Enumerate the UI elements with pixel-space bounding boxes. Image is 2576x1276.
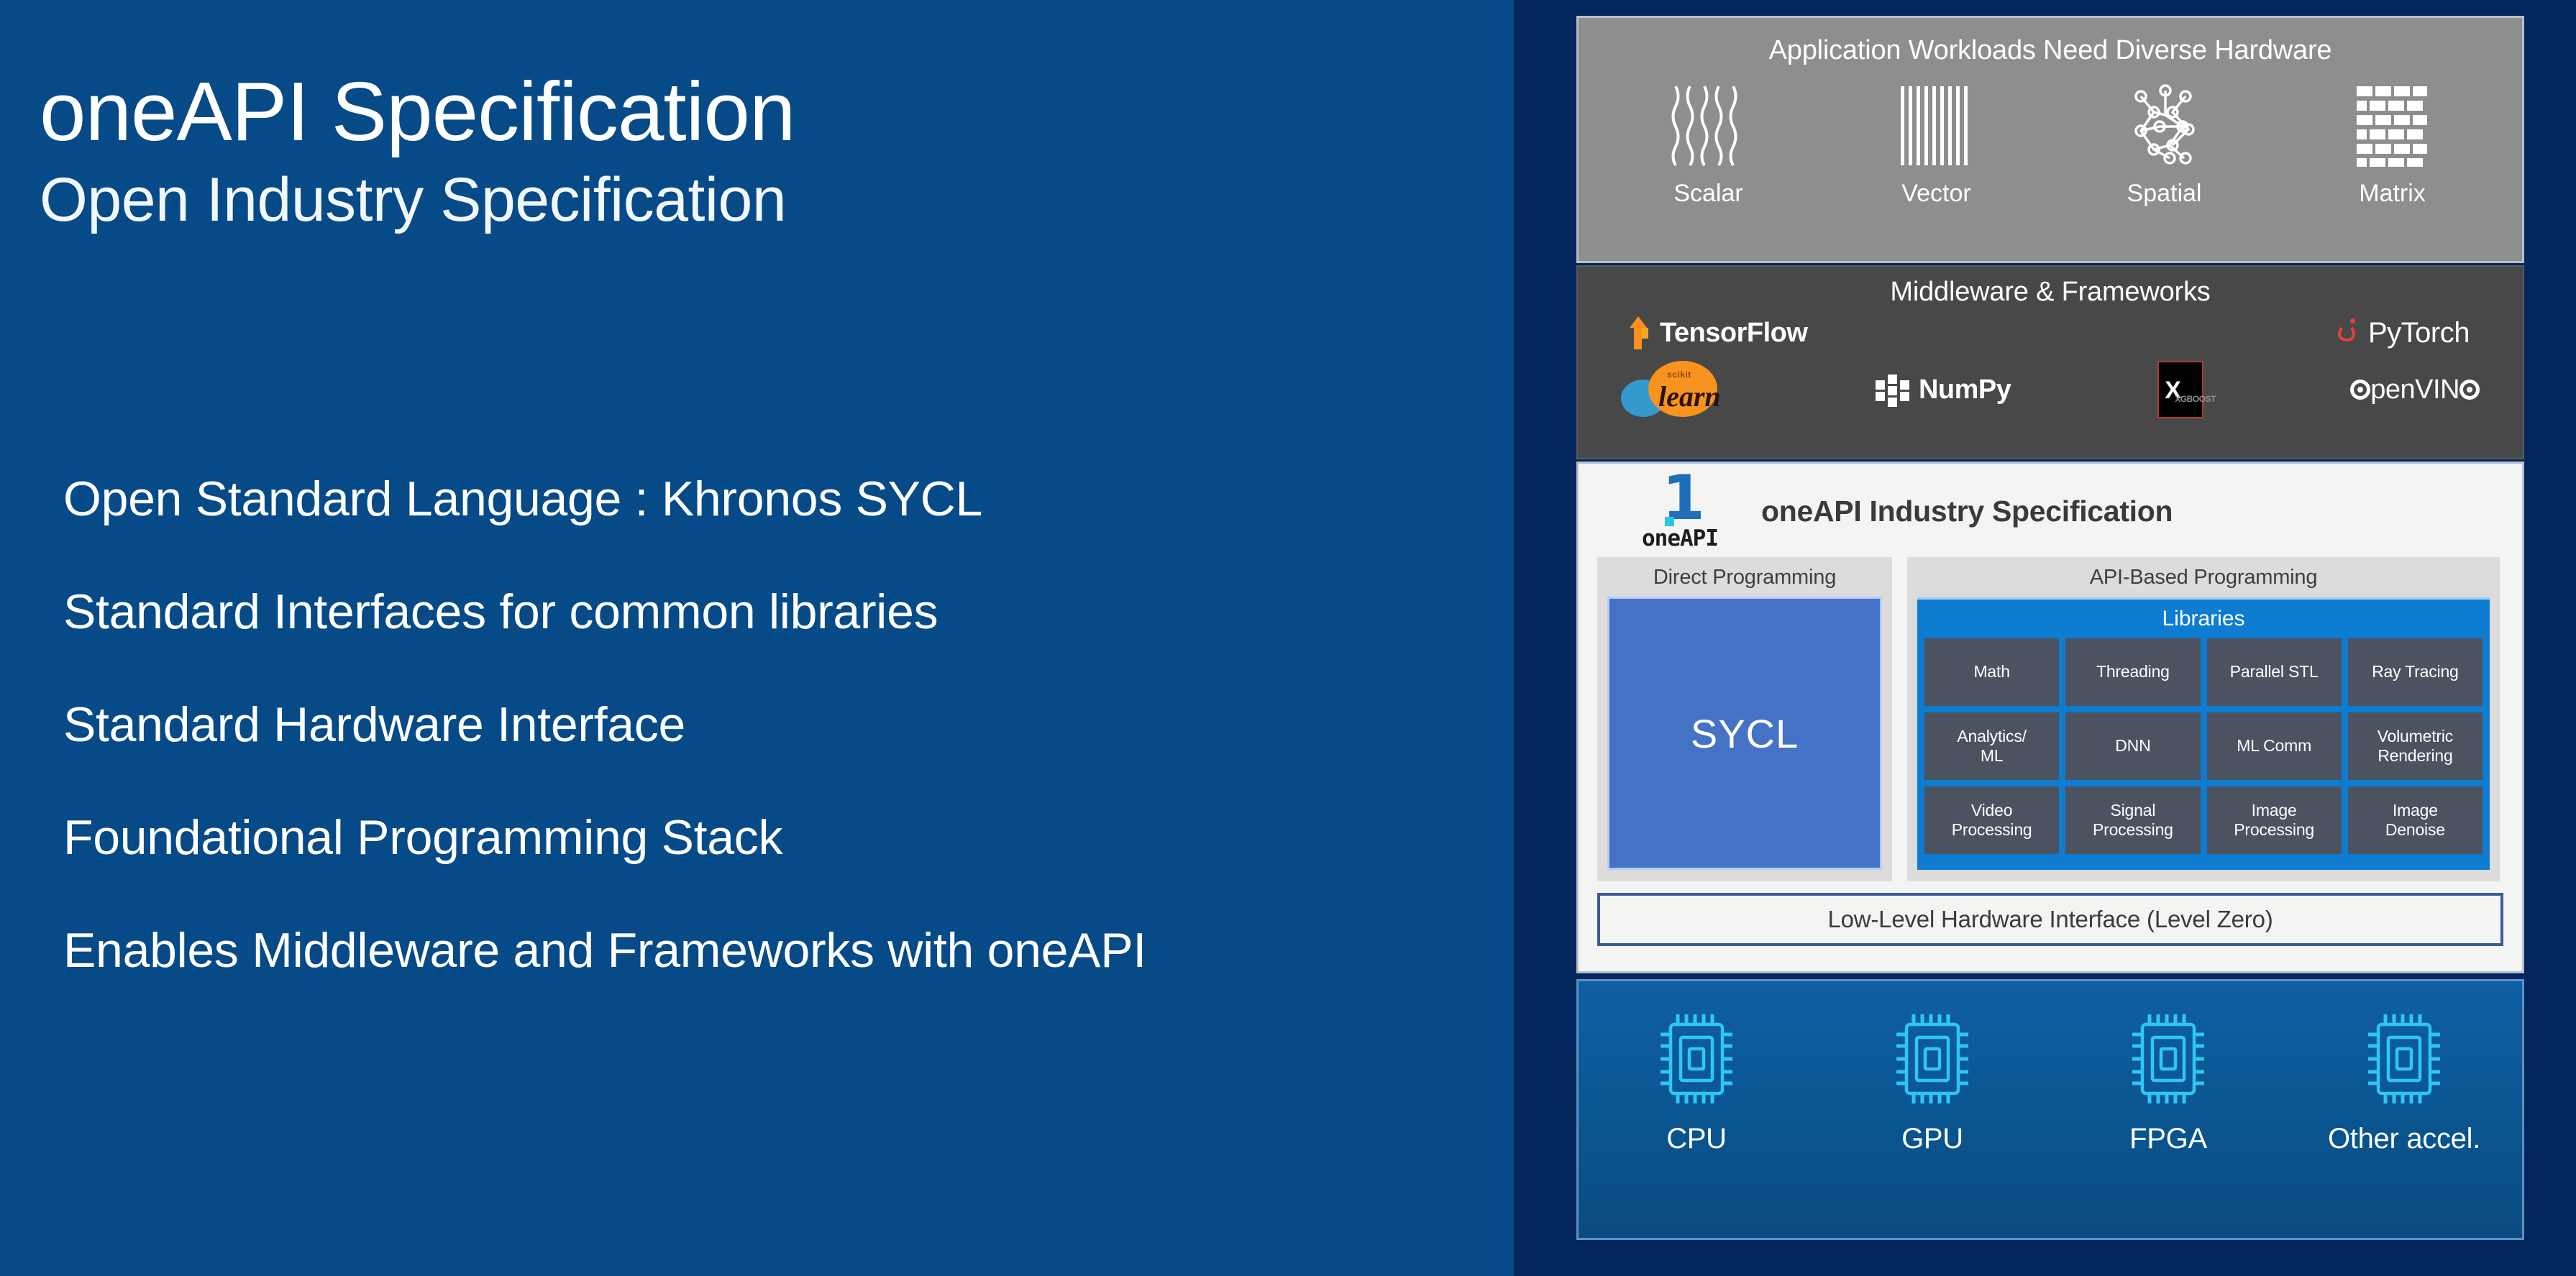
numpy-logo-icon	[1876, 372, 1910, 408]
library-tile[interactable]: Signal Processing	[2065, 786, 2200, 854]
cpu-chip-icon	[1888, 1010, 1977, 1108]
scikit-learn-sub-label: scikit	[1667, 370, 1691, 380]
framework-scikit-learn: scikit learn	[1621, 359, 1729, 420]
list-item: Open Standard Language : Khronos SYCL	[63, 474, 1473, 523]
library-tile[interactable]: Image Processing	[2207, 786, 2342, 854]
framework-tensorflow: TensorFlow	[1625, 316, 1807, 349]
list-item: Standard Interfaces for common libraries	[63, 587, 1473, 636]
workload-item-matrix: Matrix	[2278, 82, 2506, 208]
libraries-grid: Math Threading Parallel STL Ray Tracing …	[1924, 638, 2483, 854]
tensorflow-logo-icon	[1625, 316, 1651, 349]
hardware-target-label: CPU	[1579, 1123, 1814, 1155]
framework-numpy: NumPy	[1876, 372, 2011, 408]
hardware-target-other-accel: Other accel.	[2286, 1010, 2522, 1155]
workloads-icon-row: Scalar	[1579, 82, 2522, 208]
left-content-panel: oneAPI Specification Open Industry Speci…	[0, 0, 1514, 1276]
library-tile[interactable]: Video Processing	[1924, 786, 2059, 854]
hardware-target-label: GPU	[1814, 1123, 2050, 1155]
library-tile[interactable]: Threading	[2065, 638, 2200, 706]
programming-columns: Direct Programming SYCL API-Based Progra…	[1579, 557, 2522, 881]
workload-label: Scalar	[1594, 180, 1822, 208]
workloads-title: Application Workloads Need Diverse Hardw…	[1579, 18, 2522, 66]
vector-bars-icon	[1822, 82, 2050, 168]
middleware-title: Middleware & Frameworks	[1578, 267, 2523, 308]
libraries-title: Libraries	[1924, 607, 2483, 631]
scikit-learn-label: learn	[1658, 380, 1721, 413]
column-title: Direct Programming	[1607, 566, 1882, 589]
library-tile[interactable]: DNN	[2065, 712, 2200, 780]
slide-root: oneAPI Specification Open Industry Speci…	[0, 0, 2576, 1276]
libraries-block: Libraries Math Threading Parallel STL Ra…	[1917, 597, 2490, 870]
framework-pytorch: PyTorch	[2335, 317, 2470, 349]
spatial-graph-icon	[2050, 82, 2278, 168]
hardware-targets-band: CPU	[1576, 979, 2524, 1240]
workload-label: Spatial	[2050, 180, 2278, 208]
oneapi-logo-icon: 1 oneAPI	[1642, 472, 1728, 550]
direct-programming-column: Direct Programming SYCL	[1597, 557, 1892, 881]
workload-label: Vector	[1822, 180, 2050, 208]
framework-openvino: penVIN	[2350, 375, 2480, 405]
specification-card: 1 oneAPI oneAPI Industry Specification D…	[1576, 462, 2524, 973]
list-item: Standard Hardware Interface	[63, 700, 1473, 749]
workloads-band: Application Workloads Need Diverse Hardw…	[1576, 16, 2524, 263]
list-item: Foundational Programming Stack	[63, 813, 1473, 862]
library-tile[interactable]: Math	[1924, 638, 2059, 706]
framework-label: penVIN	[2370, 375, 2459, 405]
library-tile[interactable]: Ray Tracing	[2348, 638, 2483, 706]
list-item: Enables Middleware and Frameworks with o…	[63, 926, 1473, 975]
specification-header: 1 oneAPI oneAPI Industry Specification	[1579, 464, 2522, 550]
sycl-label: SYCL	[1691, 710, 1799, 757]
openvino-logo-icon-trailing	[2459, 380, 2480, 400]
diagram-backdrop: Application Workloads Need Diverse Hardw…	[1514, 0, 2576, 1276]
low-level-hardware-interface-label: Low-Level Hardware Interface (Level Zero…	[1827, 906, 2273, 933]
column-title: API-Based Programming	[1917, 566, 2490, 589]
title-block: oneAPI Specification Open Industry Speci…	[40, 68, 1406, 236]
framework-label: TensorFlow	[1660, 318, 1807, 349]
framework-label: PyTorch	[2368, 317, 2470, 349]
specification-title: oneAPI Industry Specification	[1761, 495, 2173, 528]
cpu-chip-icon	[2124, 1010, 2213, 1108]
openvino-logo-icon	[2350, 380, 2370, 400]
library-tile[interactable]: Analytics/ ML	[1924, 712, 2059, 780]
cpu-chip-icon	[2360, 1010, 2449, 1108]
scalar-wavy-lines-icon	[1594, 82, 1822, 168]
framework-row-1: TensorFlow PyTorch	[1578, 316, 2523, 349]
scikit-learn-logo-icon: scikit learn	[1621, 359, 1729, 420]
oneapi-logo-word: oneAPI	[1642, 525, 1718, 551]
page-subtitle: Open Industry Specification	[40, 165, 1406, 236]
sycl-block[interactable]: SYCL	[1607, 597, 1882, 870]
xgboost-logo-icon: X XGBOOST	[2157, 361, 2203, 418]
cpu-chip-icon	[1652, 1010, 1741, 1108]
oneapi-stack-diagram: Application Workloads Need Diverse Hardw…	[1576, 16, 2524, 1240]
low-level-hardware-interface-bar[interactable]: Low-Level Hardware Interface (Level Zero…	[1597, 893, 2503, 946]
workload-label: Matrix	[2278, 180, 2506, 208]
api-based-programming-column: API-Based Programming Libraries Math Thr…	[1907, 557, 2500, 881]
bullet-list: Open Standard Language : Khronos SYCL St…	[63, 474, 1473, 975]
workload-item-vector: Vector	[1822, 82, 2050, 208]
hardware-target-gpu: GPU	[1814, 1010, 2050, 1155]
workload-item-scalar: Scalar	[1594, 82, 1822, 208]
hardware-target-label: Other accel.	[2286, 1123, 2522, 1155]
hardware-target-label: FPGA	[2050, 1123, 2286, 1155]
framework-row-2: scikit learn NumPy	[1578, 359, 2523, 420]
library-tile[interactable]: Image Denoise	[2348, 786, 2483, 854]
matrix-grid-icon	[2278, 82, 2506, 168]
pytorch-logo-icon	[2335, 318, 2360, 347]
workload-item-spatial: Spatial	[2050, 82, 2278, 208]
page-title: oneAPI Specification	[40, 68, 1406, 156]
framework-xgboost: X XGBOOST	[2157, 361, 2203, 418]
library-tile[interactable]: ML Comm	[2207, 712, 2342, 780]
hardware-target-fpga: FPGA	[2050, 1010, 2286, 1155]
middleware-band: Middleware & Frameworks TensorFlow PyTor…	[1576, 265, 2524, 459]
xgboost-label: XGBOOST	[2175, 394, 2216, 404]
hardware-target-cpu: CPU	[1579, 1010, 1814, 1155]
library-tile[interactable]: Volumetric Rendering	[2348, 712, 2483, 780]
library-tile[interactable]: Parallel STL	[2207, 638, 2342, 706]
framework-label: NumPy	[1919, 375, 2011, 405]
